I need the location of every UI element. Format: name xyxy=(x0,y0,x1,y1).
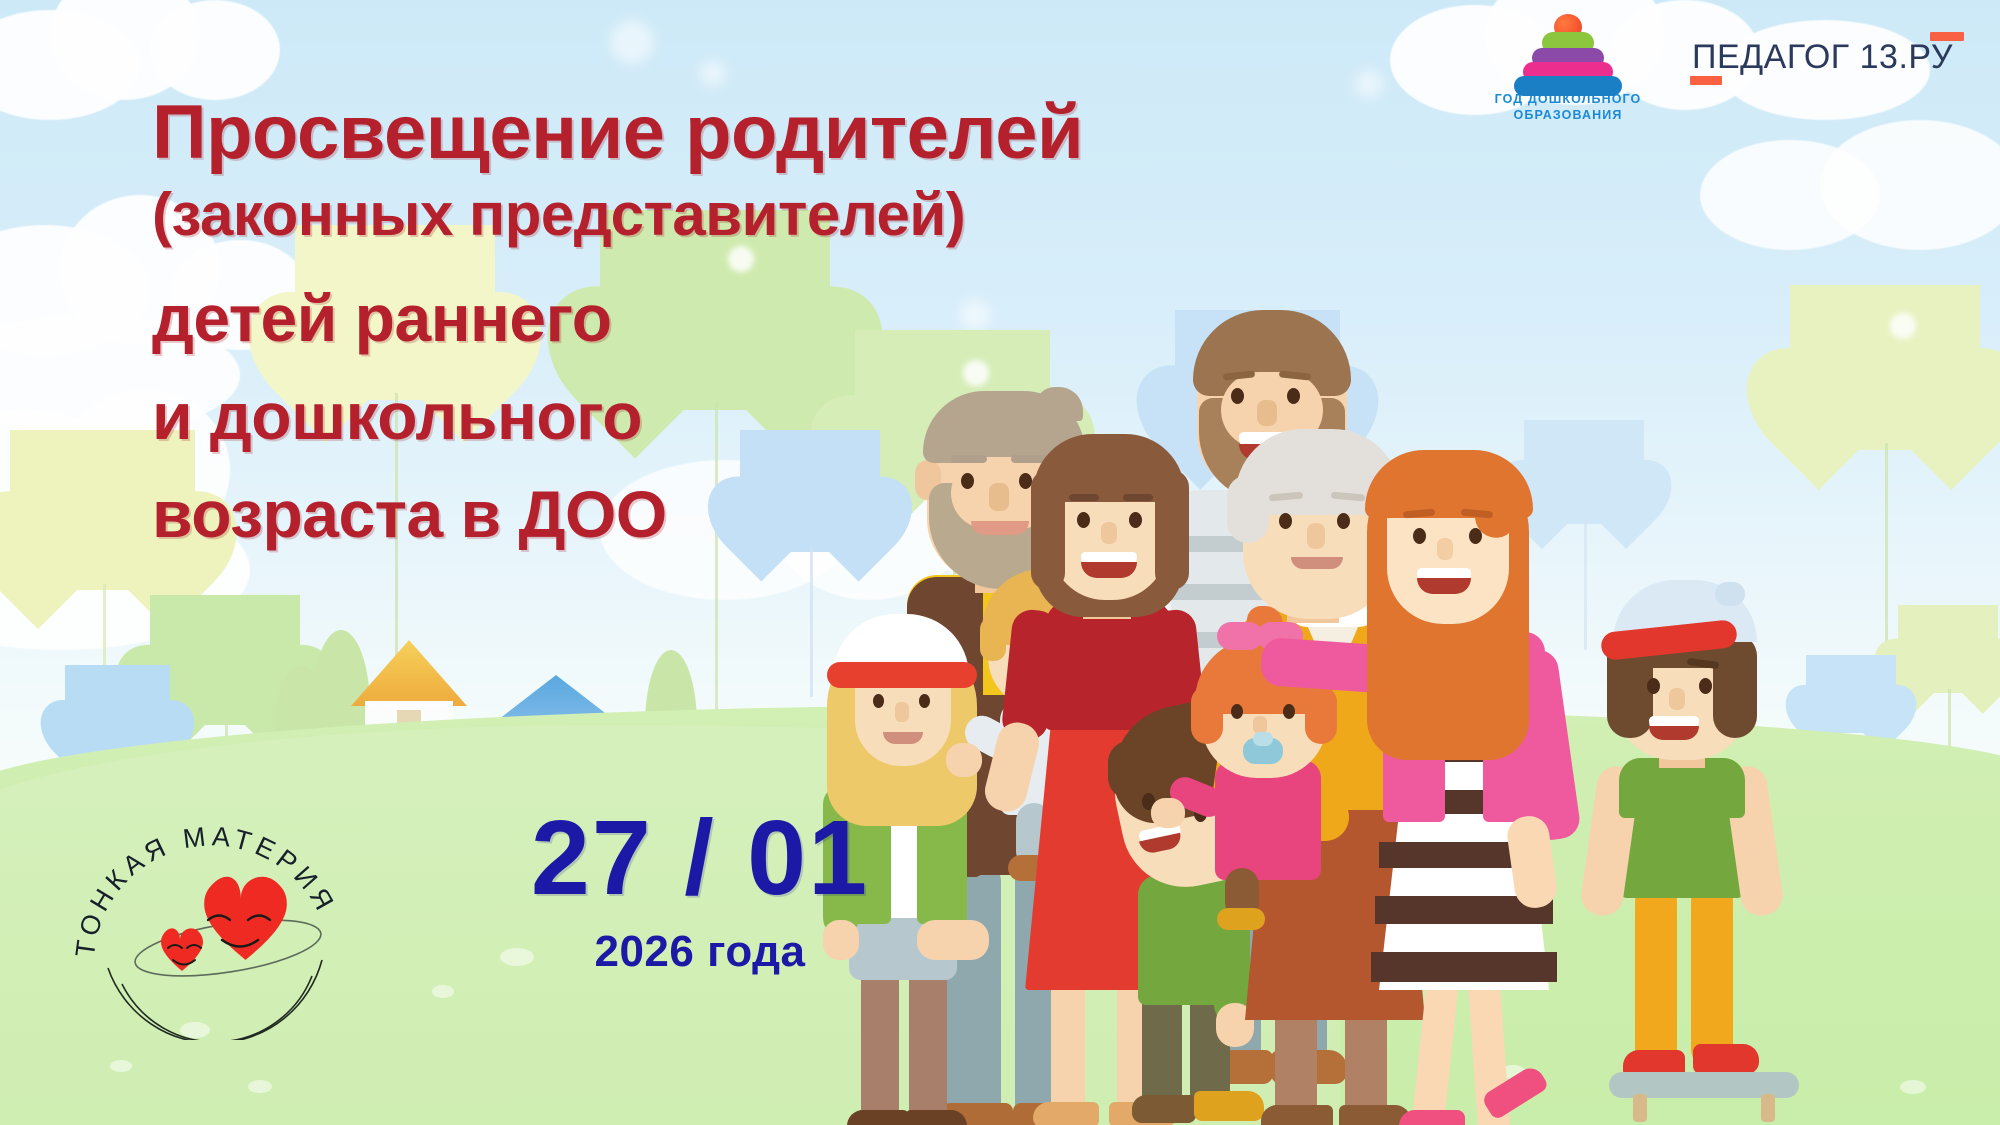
ground-dot-4 xyxy=(432,985,454,998)
event-date-main: 27 / 01 xyxy=(500,805,900,911)
logo-pedagog13[interactable]: ПЕДАГОГ 13.РУ xyxy=(1692,28,1953,77)
logo-god-doshkolnogo[interactable]: ГОД ДОШКОЛЬНОГО ОБРАЗОВАНИЯ xyxy=(1478,10,1658,130)
bokeh-6 xyxy=(1355,70,1383,98)
accent-bar-bottom-left xyxy=(1690,76,1722,85)
bokeh-2 xyxy=(700,60,726,86)
bokeh-1 xyxy=(610,20,654,64)
ground-dot-2 xyxy=(248,1080,272,1093)
accent-bar-top-right xyxy=(1930,32,1964,41)
event-date-year: 2026 года xyxy=(500,927,900,977)
title-line-2: (законных представителей) xyxy=(152,185,1332,245)
event-date: 27 / 01 2026 года xyxy=(500,805,900,977)
pyramid-ring-5 xyxy=(1514,76,1622,96)
pyramid-toy-icon xyxy=(1513,14,1623,90)
tonkaya-materia-logo[interactable]: ТОНКАЯ МАТЕРИЯ xyxy=(60,770,360,1040)
logo-pedagog-text: ПЕДАГОГ 13.РУ xyxy=(1692,38,1953,77)
ground-dot-8 xyxy=(110,1060,132,1072)
page-title: Просвещение родителей (законных представ… xyxy=(152,95,1332,547)
logo-god-line-2: ОБРАЗОВАНИЯ xyxy=(1478,108,1658,124)
title-line-4: и дошкольного xyxy=(152,383,1332,449)
title-line-5: возраста в ДОО xyxy=(152,481,1332,547)
title-line-1: Просвещение родителей xyxy=(152,95,1332,171)
person-boy-skateboard xyxy=(1565,580,1795,1125)
poster-canvas: Просвещение родителей (законных представ… xyxy=(0,0,2000,1125)
title-line-3: детей раннего xyxy=(152,285,1332,351)
person-young-woman xyxy=(1335,420,1575,1125)
svg-text:ТОНКАЯ МАТЕРИЯ: ТОНКАЯ МАТЕРИЯ xyxy=(70,821,342,959)
